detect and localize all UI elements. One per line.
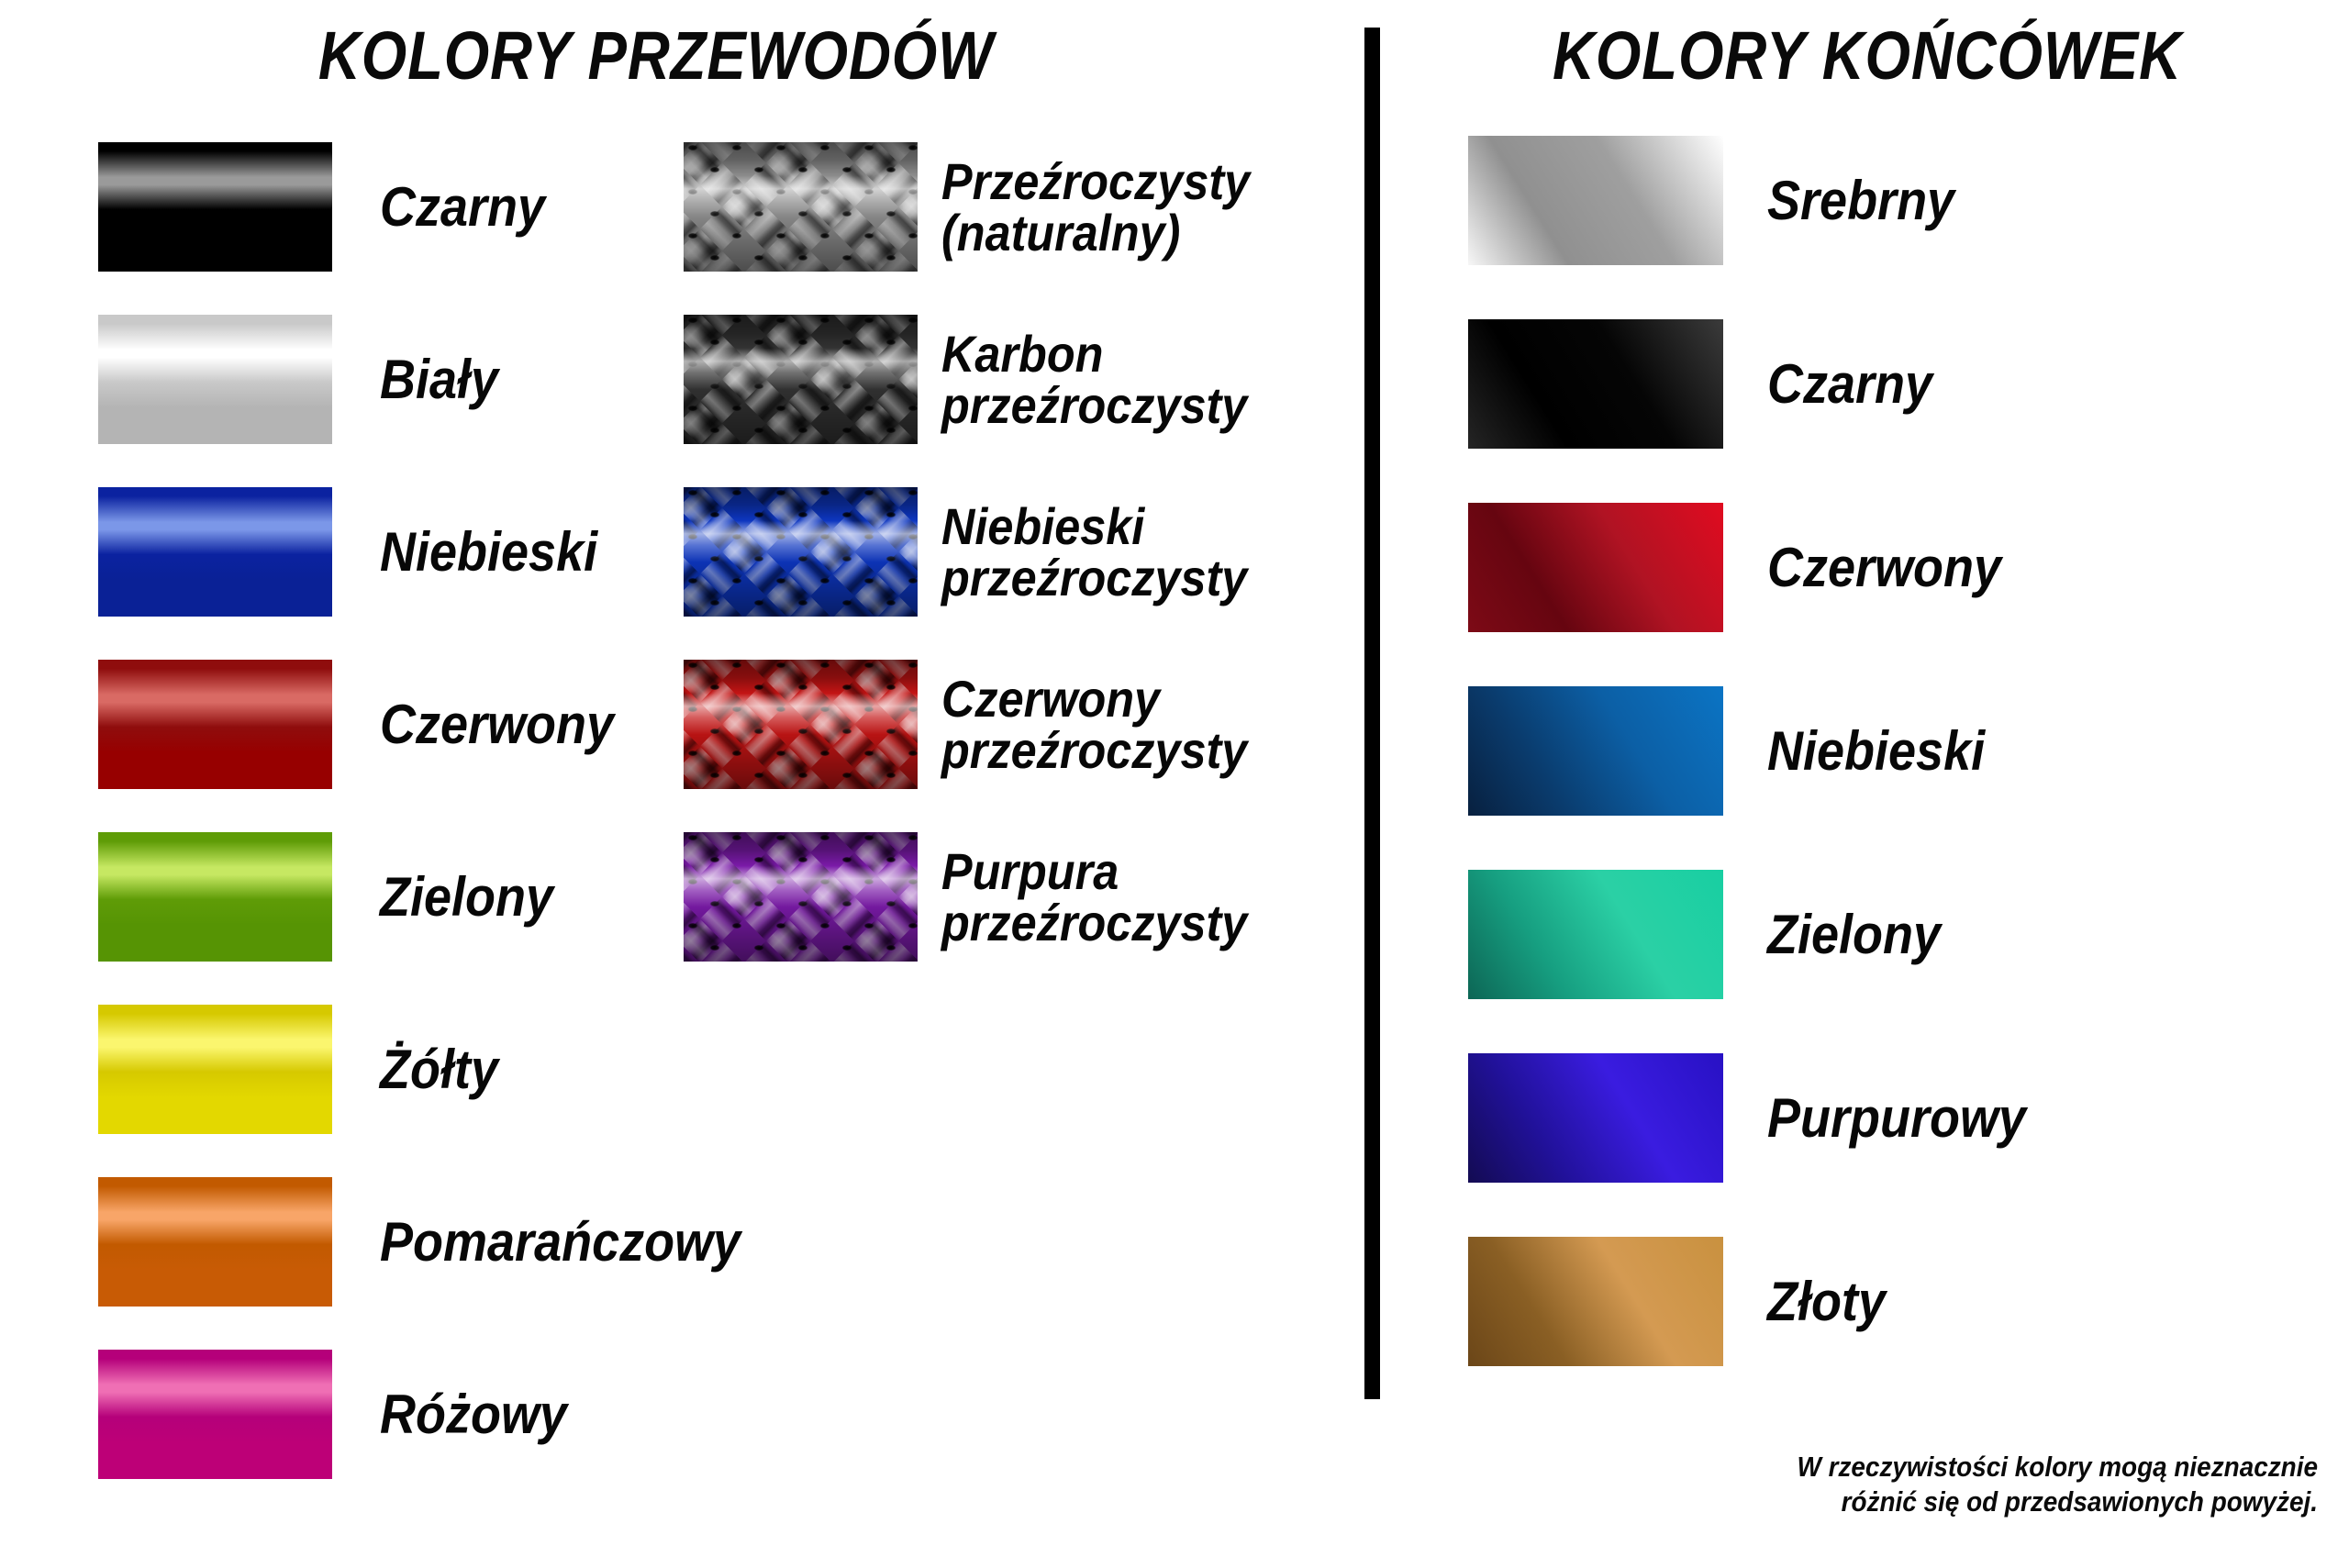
legend-row: Żółty [98,1005,511,1134]
braided-sleeve-texture [684,487,918,617]
cables-section-title: KOLORY PRZEWODÓW [92,17,1220,95]
cable-zolty-swatch [98,1005,332,1134]
section-divider [1364,28,1380,1399]
gradient-fill [98,142,332,272]
conn-czerwony-label: Czerwony [1767,540,2001,595]
conn-zloty-swatch [1468,1237,1723,1366]
cable-bialy-swatch [98,315,332,444]
legend-row: Przeźroczysty (naturalny) [684,142,1285,272]
braid-gloss-highlight [684,487,918,617]
legend-row: Biały [98,315,511,444]
legend-row: Różowy [98,1350,588,1479]
legend-row: Zielony [98,832,573,962]
cable-niebieski-label: Niebieski [380,525,597,579]
cable-czarny-swatch [98,142,332,272]
gradient-fill [98,487,332,617]
cable-zolty-label: Żółty [380,1042,498,1096]
cable-zielony-swatch [98,832,332,962]
legend-row: Zielony [1468,870,1960,999]
legend-row: Niebieski [98,487,621,617]
cable-czerwony-swatch [98,660,332,789]
braid-purpura-swatch [684,832,918,962]
braid-karbon-swatch [684,315,918,444]
cable-niebieski-swatch [98,487,332,617]
braid-gloss-highlight [684,660,918,789]
cable-czerwony-label: Czerwony [380,697,614,751]
braid-czerwony-swatch [684,660,918,789]
cable-bialy-label: Biały [380,352,498,406]
legend-row: Niebieski przeźroczysty [684,487,1281,617]
cable-rozowy-swatch [98,1350,332,1479]
cable-pomaranczowy-swatch [98,1177,332,1307]
conn-czarny-swatch [1468,319,1723,449]
braid-niebieski-swatch [684,487,918,617]
braid-naturalny-swatch [684,142,918,272]
braided-sleeve-texture [684,315,918,444]
gradient-fill [1468,319,1723,449]
braid-purpura-label: Purpura przeźroczysty [941,846,1247,948]
conn-purpurowy-swatch [1468,1053,1723,1183]
legend-row: Srebrny [1468,136,1976,265]
gradient-fill [98,660,332,789]
legend-row: Purpurowy [1468,1053,2054,1183]
braid-gloss-highlight [684,832,918,962]
legend-row: Złoty [1468,1237,1898,1366]
braid-gloss-highlight [684,315,918,444]
gradient-fill [1468,1237,1723,1366]
legend-row: Czerwony [98,660,640,789]
gradient-fill [98,832,332,962]
braid-czerwony-label: Czerwony przeźroczysty [941,673,1247,775]
conn-czerwony-swatch [1468,503,1723,632]
braid-gloss-highlight [684,142,918,272]
gradient-fill [98,1177,332,1307]
braided-sleeve-texture [684,832,918,962]
braid-naturalny-label: Przeźroczysty (naturalny) [941,156,1250,258]
legend-row: Czerwony [1468,503,2027,632]
gradient-fill [1468,136,1723,265]
gradient-fill [98,1005,332,1134]
conn-niebieski-swatch [1468,686,1723,816]
legend-row: Karbon przeźroczysty [684,315,1281,444]
conn-srebrny-label: Srebrny [1767,173,1954,228]
conn-purpurowy-label: Purpurowy [1767,1091,2026,1145]
cable-czarny-label: Czarny [380,180,545,234]
gradient-fill [1468,503,1723,632]
braid-niebieski-label: Niebieski przeźroczysty [941,501,1247,603]
cable-rozowy-label: Różowy [380,1387,567,1441]
conn-zloty-label: Złoty [1767,1274,1886,1329]
legend-row: Purpura przeźroczysty [684,832,1281,962]
disclaimer-note: W rzeczywistości kolory mogą nieznacznie… [1608,1450,2318,1519]
gradient-fill [1468,686,1723,816]
legend-row: Niebieski [1468,686,2009,816]
gradient-fill [1468,1053,1723,1183]
conn-srebrny-swatch [1468,136,1723,265]
connectors-section-title: KOLORY KOŃCÓWEK [1461,17,2274,95]
gradient-fill [98,1350,332,1479]
legend-row: Czarny [98,142,563,272]
conn-niebieski-label: Niebieski [1767,724,1985,778]
braided-sleeve-texture [684,660,918,789]
legend-row: Czarny [1468,319,1951,449]
cable-zielony-label: Zielony [380,870,553,924]
braid-karbon-label: Karbon przeźroczysty [941,328,1247,430]
conn-zielony-label: Zielony [1767,907,1941,962]
legend-row: Pomarańczowy [98,1177,781,1307]
gradient-fill [1468,870,1723,999]
braided-sleeve-texture [684,142,918,272]
conn-zielony-swatch [1468,870,1723,999]
legend-row: Czerwony przeźroczysty [684,660,1281,789]
gradient-fill [98,315,332,444]
cable-pomaranczowy-label: Pomarańczowy [380,1215,740,1269]
conn-czarny-label: Czarny [1767,357,1932,411]
